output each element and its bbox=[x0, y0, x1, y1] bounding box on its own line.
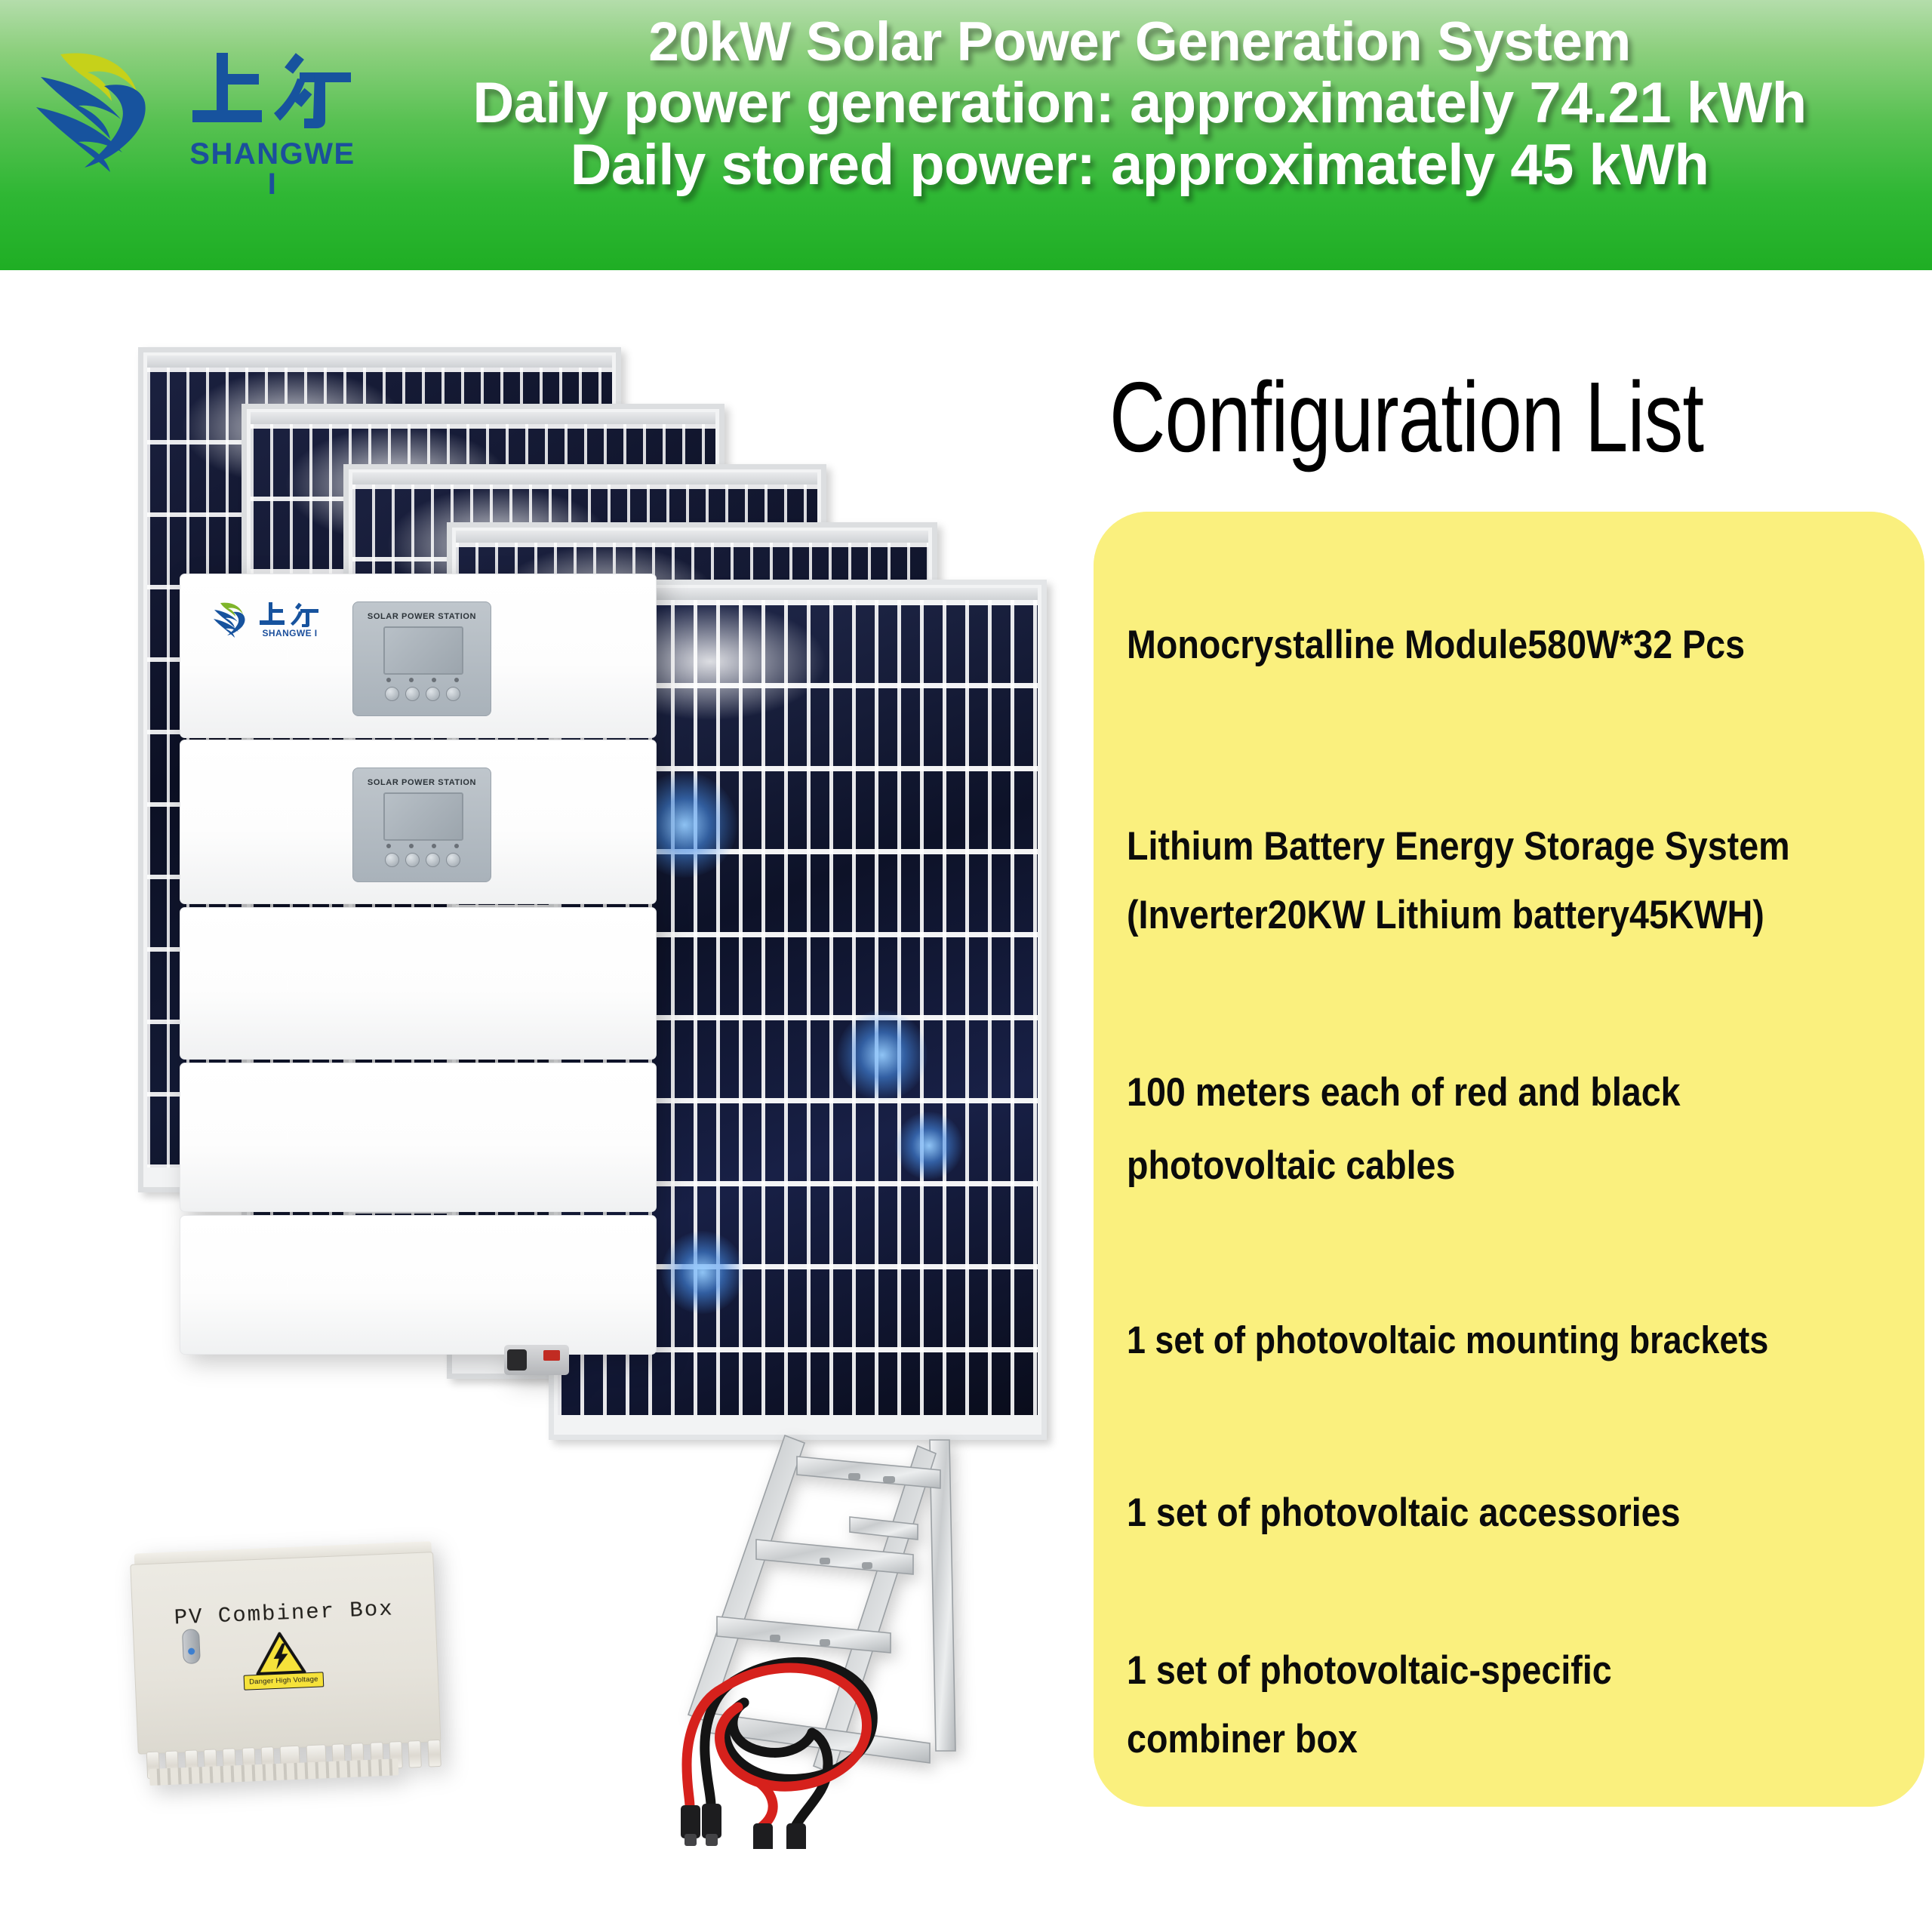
inverter-battery-stack: SHANGWE I SOLAR POWER STATION bbox=[180, 574, 657, 1355]
led-indicator bbox=[454, 678, 459, 682]
led-indicator bbox=[386, 678, 391, 682]
inverter-module-top: SHANGWE I SOLAR POWER STATION bbox=[180, 574, 657, 738]
inverter-button-esc[interactable] bbox=[385, 853, 399, 867]
brand-logo-chinese-characters bbox=[186, 47, 356, 137]
config-item-text: 100 meters each of red and black bbox=[1127, 1058, 1817, 1127]
panel-frame-top bbox=[147, 355, 612, 368]
cable-gland bbox=[408, 1740, 422, 1768]
header-title-line-1: 20kW Solar Power Generation System bbox=[355, 12, 1924, 72]
inverter-button-up[interactable] bbox=[405, 853, 420, 867]
inverter-buttons-2[interactable] bbox=[385, 853, 460, 867]
panel-frame-top bbox=[456, 531, 928, 543]
inverter-lcd-screen-1 bbox=[383, 626, 463, 675]
config-item-text: combiner box bbox=[1127, 1705, 1817, 1774]
combiner-box-latch[interactable] bbox=[182, 1629, 201, 1664]
inverter-button-down[interactable] bbox=[426, 853, 440, 867]
inverter-button-enter[interactable] bbox=[446, 687, 460, 701]
brand-logo-latin-text: SHANGWE I bbox=[189, 139, 356, 199]
shangwei-swoosh-logo-icon bbox=[32, 38, 183, 181]
config-list-item[interactable]: 1 set of photovoltaic accessories bbox=[1094, 1431, 1924, 1595]
config-list-item[interactable]: 1 set of photovoltaic-specific combiner … bbox=[1094, 1603, 1924, 1807]
led-indicator bbox=[432, 678, 436, 682]
inverter-button-enter[interactable] bbox=[446, 853, 460, 867]
battery-module-3 bbox=[180, 1215, 657, 1355]
config-list-item[interactable]: Monocrystalline Module580W*32 Pcs bbox=[1094, 512, 1924, 753]
inverter-button-up[interactable] bbox=[405, 687, 420, 701]
header-title-block: 20kW Solar Power Generation System Daily… bbox=[355, 12, 1924, 197]
page-title: Configuration List bbox=[1109, 362, 1734, 472]
photovoltaic-cable-coil bbox=[649, 1600, 928, 1849]
combiner-box-label: PV Combiner Box bbox=[133, 1595, 435, 1632]
inverter-status-leds-1 bbox=[386, 678, 459, 682]
config-item-text: 1 set of photovoltaic accessories bbox=[1127, 1478, 1817, 1547]
config-item-text: 1 set of photovoltaic mounting brackets bbox=[1127, 1307, 1817, 1374]
led-indicator bbox=[386, 844, 391, 848]
header-title-line-2: Daily power generation: approximately 74… bbox=[355, 72, 1924, 135]
inverter-panel-label-1: SOLAR POWER STATION bbox=[353, 612, 491, 621]
config-item-text: 1 set of photovoltaic-specific bbox=[1127, 1636, 1817, 1705]
inverter-brand-latin: SHANGWE I bbox=[257, 629, 322, 638]
breaker-red-switch[interactable] bbox=[543, 1350, 560, 1361]
inverter-module-second: SOLAR POWER STATION bbox=[180, 740, 657, 904]
led-indicator bbox=[432, 844, 436, 848]
danger-high-voltage-label: Danger High Voltage bbox=[244, 1672, 325, 1690]
breaker-knob[interactable] bbox=[507, 1349, 527, 1371]
inverter-control-panel-2[interactable]: SOLAR POWER STATION bbox=[352, 768, 491, 882]
inverter-brand-logo: SHANGWE I bbox=[212, 598, 325, 645]
battery-breaker-assembly bbox=[504, 1345, 595, 1380]
inverter-lcd-screen-2 bbox=[383, 792, 463, 841]
inverter-brand-chinese bbox=[257, 600, 322, 629]
config-item-text: Monocrystalline Module580W*32 Pcs bbox=[1127, 585, 1817, 679]
led-indicator bbox=[454, 844, 459, 848]
battery-module-2 bbox=[180, 1063, 657, 1212]
led-indicator bbox=[409, 678, 414, 682]
config-list-item[interactable]: 1 set of photovoltaic mounting brackets bbox=[1094, 1257, 1924, 1423]
header-banner: SHANGWE I 20kW Solar Power Generation Sy… bbox=[0, 0, 1932, 270]
high-voltage-triangle-icon bbox=[254, 1630, 306, 1676]
panel-frame-top bbox=[251, 412, 715, 424]
config-list-item[interactable]: Lithium Battery Energy Storage System (I… bbox=[1094, 761, 1924, 1001]
pv-combiner-box: PV Combiner Box Danger High Voltage bbox=[130, 1540, 457, 1787]
config-item-text: photovoltaic cables bbox=[1127, 1131, 1817, 1200]
led-indicator bbox=[409, 844, 414, 848]
combiner-box-body: PV Combiner Box Danger High Voltage bbox=[130, 1552, 441, 1755]
panel-frame-top bbox=[352, 472, 817, 485]
inverter-status-leds-2 bbox=[386, 844, 459, 848]
battery-module-1 bbox=[180, 907, 657, 1060]
inverter-button-down[interactable] bbox=[426, 687, 440, 701]
product-photo-composite: SHANGWE I SOLAR POWER STATION bbox=[0, 272, 1102, 1932]
header-title-line-3: Daily stored power: approximately 45 kWh bbox=[355, 134, 1924, 197]
cable-gland bbox=[427, 1740, 441, 1767]
config-item-text: (Inverter20KW Lithium battery45KWH) bbox=[1127, 881, 1817, 949]
inverter-control-panel-1[interactable]: SOLAR POWER STATION bbox=[352, 601, 491, 716]
config-item-text: Lithium Battery Energy Storage System bbox=[1127, 812, 1817, 881]
brand-logo: SHANGWE I bbox=[32, 32, 356, 190]
inverter-buttons-1[interactable] bbox=[385, 687, 460, 701]
inverter-button-esc[interactable] bbox=[385, 687, 399, 701]
mc4-connector bbox=[681, 1804, 806, 1849]
shangwei-swoosh-logo-icon bbox=[212, 598, 254, 639]
configuration-list-card: Monocrystalline Module580W*32 Pcs Lithiu… bbox=[1094, 512, 1924, 1807]
inverter-panel-label-2: SOLAR POWER STATION bbox=[353, 778, 491, 787]
config-list-item[interactable]: 100 meters each of red and black photovo… bbox=[1094, 1008, 1924, 1250]
